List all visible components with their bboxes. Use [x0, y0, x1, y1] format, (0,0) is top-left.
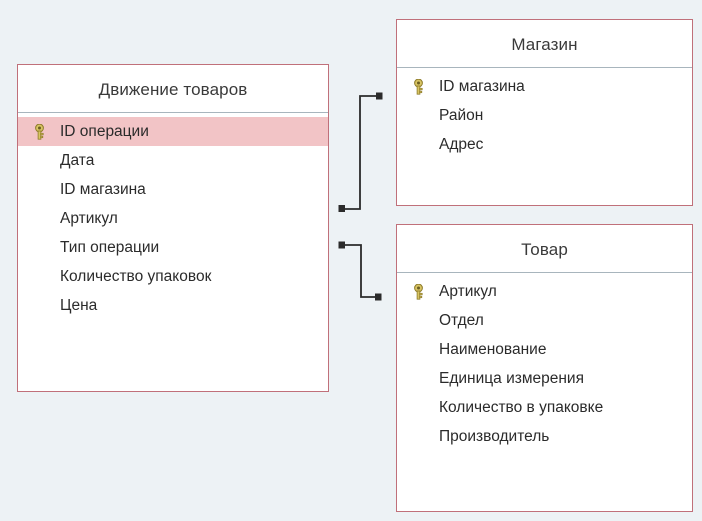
relationship-line-magazin[interactable]: [339, 93, 383, 213]
relationship-polyline-tovar: [343, 245, 377, 297]
field-label: Тип операции: [60, 240, 159, 256]
field-row[interactable]: Наименование: [397, 335, 692, 364]
field-row[interactable]: Адрес: [397, 130, 692, 159]
relationship-endpoint-magazin-target: [376, 93, 383, 100]
field-row[interactable]: Артикул: [18, 204, 328, 233]
field-row[interactable]: Количество упаковок: [18, 262, 328, 291]
field-label: Наименование: [439, 342, 546, 358]
field-label: ID операции: [60, 124, 149, 140]
field-list-dvizhenie: ID операции Дата ID магазина Артикул Тип…: [18, 113, 328, 320]
field-list-magazin: ID магазина Район Адрес: [397, 68, 692, 159]
field-row[interactable]: Район: [397, 101, 692, 130]
entity-table-tovar[interactable]: Товар Артикул Отдел: [396, 224, 693, 512]
entity-table-title-tovar: Товар: [397, 225, 692, 272]
field-row[interactable]: ID магазина: [397, 72, 692, 101]
field-row[interactable]: ID операции: [18, 117, 328, 146]
field-row[interactable]: Количество в упаковке: [397, 393, 692, 422]
field-row[interactable]: Артикул: [397, 277, 692, 306]
field-list-tovar: Артикул Отдел Наименование Единица измер…: [397, 273, 692, 451]
field-row[interactable]: Тип операции: [18, 233, 328, 262]
field-label: ID магазина: [439, 79, 525, 95]
entity-table-dvizhenie[interactable]: Движение товаров ID операции Дата: [17, 64, 329, 392]
field-row[interactable]: Цена: [18, 291, 328, 320]
field-label: Район: [439, 108, 483, 124]
field-label: Количество в упаковке: [439, 400, 603, 416]
schema-diagram-canvas: Движение товаров ID операции Дата: [0, 0, 702, 521]
field-label: Дата: [60, 153, 94, 169]
field-row[interactable]: ID магазина: [18, 175, 328, 204]
entity-table-title-magazin: Магазин: [397, 20, 692, 67]
primary-key-icon: [32, 124, 60, 140]
entity-table-title-dvizhenie: Движение товаров: [18, 65, 328, 112]
entity-table-magazin[interactable]: Магазин ID магазина Район: [396, 19, 693, 206]
primary-key-icon: [411, 79, 439, 95]
relationship-line-tovar[interactable]: [339, 242, 382, 301]
field-label: ID магазина: [60, 182, 146, 198]
primary-key-icon: [411, 284, 439, 300]
relationship-endpoint-tovar-target: [375, 294, 382, 301]
field-row[interactable]: Производитель: [397, 422, 692, 451]
relationship-endpoint-tovar-source: [339, 242, 346, 249]
relationship-polyline-magazin: [343, 96, 378, 209]
field-label: Артикул: [60, 211, 118, 227]
field-label: Цена: [60, 298, 97, 314]
field-label: Единица измерения: [439, 371, 584, 387]
field-label: Производитель: [439, 429, 549, 445]
field-label: Количество упаковок: [60, 269, 211, 285]
field-label: Артикул: [439, 284, 497, 300]
field-label: Отдел: [439, 313, 484, 329]
relationship-endpoint-magazin-source: [339, 205, 346, 212]
field-label: Адрес: [439, 137, 483, 153]
field-row[interactable]: Отдел: [397, 306, 692, 335]
field-row[interactable]: Дата: [18, 146, 328, 175]
field-row[interactable]: Единица измерения: [397, 364, 692, 393]
